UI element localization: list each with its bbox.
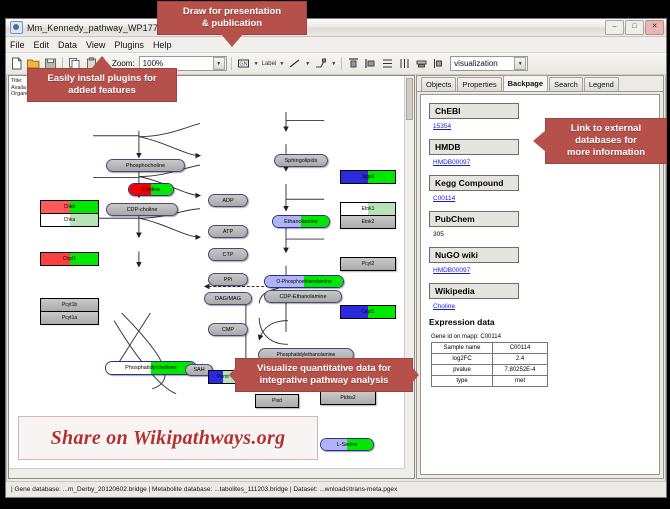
arrow-left-icon [229, 366, 237, 384]
gene-node[interactable]: Etnk2 [341, 216, 395, 228]
callout-visualize-line1: Visualize quantitative data for [257, 363, 391, 374]
metabolite-node[interactable]: CTP [208, 248, 248, 261]
minimize-button[interactable]: – [605, 20, 624, 35]
callout-visualize: Visualize quantitative data for integrat… [235, 358, 413, 392]
window-controls: – □ ✕ [605, 20, 664, 35]
menu-item-help[interactable]: Help [153, 40, 172, 50]
callout-plugins: Easily install plugins for added feature… [27, 68, 177, 102]
row-value: met [493, 376, 548, 387]
chevron-down-icon[interactable]: ▼ [213, 57, 225, 70]
metabolite-node[interactable]: Choline [128, 183, 174, 196]
kegg-link[interactable]: C00114 [433, 195, 651, 202]
canvas-horizontal-scrollbar[interactable] [9, 468, 405, 478]
label-tool[interactable]: Label [262, 61, 277, 67]
row-key: pvalue [432, 365, 493, 376]
table-row: type met [432, 376, 548, 387]
menu-item-file[interactable]: File [10, 40, 25, 50]
gene-node[interactable]: Pcyt1b [41, 299, 98, 312]
section-header-hmdb: HMDB [429, 139, 519, 155]
callout-plugins-line2: added features [68, 85, 136, 96]
tab-properties[interactable]: Properties [457, 77, 501, 91]
stack-icon[interactable] [414, 56, 429, 71]
order-icon[interactable] [431, 56, 446, 71]
distribute-vertical-icon[interactable] [380, 56, 395, 71]
tab-legend[interactable]: Legend [584, 77, 619, 91]
section-header-kegg: Kegg Compound [429, 175, 519, 191]
menu-item-plugins[interactable]: Plugins [114, 40, 144, 50]
gene-node[interactable]: Ptdss2 [320, 391, 376, 405]
row-value: 2.4 [493, 354, 548, 365]
chevron-down-icon[interactable]: ▼ [331, 61, 336, 67]
gene-node[interactable]: Chpt1 [40, 252, 99, 266]
close-button[interactable]: ✕ [645, 20, 664, 35]
menu-item-data[interactable]: Data [58, 40, 77, 50]
data-node-tool-icon[interactable]: GN [236, 56, 251, 71]
expression-table: Sample name C00114 log2FC 2.4 pvalue 7.8… [431, 342, 548, 387]
metabolite-node[interactable]: L-Serine [320, 438, 374, 451]
metabolite-node[interactable]: Ethanolamine [272, 215, 330, 228]
section-header-pubchem: PubChem [429, 211, 519, 227]
chevron-down-icon[interactable]: ▼ [279, 61, 284, 67]
metabolite-node[interactable]: O-Phosphoethanolamine [264, 275, 344, 288]
gene-group-etnk[interactable]: Etnk1 Etnk2 [340, 202, 396, 229]
gene-node[interactable]: Cept1 [340, 305, 396, 319]
callout-draw-line1: Draw for presentation [183, 6, 281, 17]
visualization-combobox[interactable]: visualization ▼ [450, 56, 528, 71]
gene-node[interactable]: Sgpl1 [340, 170, 396, 184]
row-key: type [432, 376, 493, 387]
callout-draw: Draw for presentation & publication [157, 1, 307, 35]
metabolite-node[interactable]: ATP [208, 225, 248, 238]
distribute-horizontal-icon[interactable] [397, 56, 412, 71]
metabolite-node[interactable]: ADP [208, 194, 248, 207]
tab-backpage[interactable]: Backpage [503, 75, 548, 91]
gene-id-on-mapp: Gene id on mapp: C00114 [431, 334, 651, 340]
toolbar-separator [341, 57, 342, 70]
title-bar: Mm_Kennedy_pathway_WP1771_45176.gpml – □… [6, 19, 666, 37]
tab-search[interactable]: Search [549, 77, 583, 91]
row-key: Sample name [432, 343, 493, 354]
maximize-button[interactable]: □ [625, 20, 644, 35]
arrow-down-icon [221, 34, 243, 47]
status-bar: | Gene database: ...m_Derby_20120602.bri… [6, 481, 666, 497]
canvas-vertical-scrollbar[interactable] [404, 76, 414, 478]
callout-link-line1: Link to external [571, 123, 641, 134]
toolbar-separator [231, 57, 232, 70]
share-text: Share on Wikipathways.org [51, 427, 286, 450]
metabolite-node[interactable]: CDP-Ethanolamine [264, 290, 342, 303]
metabolite-node[interactable]: Phosphocholine [106, 159, 185, 172]
callout-share: Share on Wikipathways.org [18, 416, 318, 460]
chevron-down-icon[interactable]: ▼ [254, 61, 259, 67]
metabolite-node[interactable]: Phosphatidylcholines [105, 361, 197, 375]
gene-node[interactable]: Etnk1 [341, 203, 395, 216]
tab-objects[interactable]: Objects [421, 77, 456, 91]
application-icon [10, 21, 23, 34]
side-panel-tabs: Objects Properties Backpage Search Legen… [417, 76, 663, 92]
table-row: log2FC 2.4 [432, 354, 548, 365]
metabolite-node[interactable]: CMP [208, 323, 248, 336]
callout-visualize-line2: integrative pathway analysis [260, 375, 389, 386]
zoom-value: 100% [143, 59, 163, 68]
wikipedia-link[interactable]: Choline [433, 303, 651, 310]
line-tool-icon[interactable] [287, 56, 302, 71]
zoom-label: Zoom: [112, 59, 135, 68]
row-value: C00114 [493, 343, 548, 354]
align-top-icon[interactable] [346, 56, 361, 71]
screenshot-root: Mm_Kennedy_pathway_WP1771_45176.gpml – □… [0, 0, 670, 509]
arrow-up-icon [91, 56, 113, 69]
arrow-left-icon [533, 130, 546, 152]
menu-item-edit[interactable]: Edit [34, 40, 50, 50]
section-header-nugo: NuGO wiki [429, 247, 519, 263]
gene-node[interactable]: Chka [41, 214, 98, 226]
metabolite-node[interactable]: Sphingolipids [274, 154, 328, 167]
callout-link-line3: more information [567, 147, 645, 158]
arrow-right-icon [411, 366, 419, 384]
align-left-icon[interactable] [363, 56, 378, 71]
expression-data-title: Expression data [429, 317, 651, 327]
gene-node[interactable]: Chkb [41, 201, 98, 214]
callout-draw-line2: & publication [202, 18, 262, 29]
status-text: | Gene database: ...m_Derby_20120602.bri… [6, 486, 397, 493]
gene-group-chk[interactable]: Chkb Chka [40, 200, 99, 227]
visualization-value: visualization [454, 59, 498, 68]
callout-plugins-line1: Easily install plugins for [47, 73, 156, 84]
callout-link-databases: Link to external databases for more info… [545, 118, 667, 164]
section-header-chebi: ChEBI [429, 103, 519, 119]
chevron-down-icon[interactable]: ▼ [514, 57, 526, 70]
new-file-icon[interactable] [9, 56, 24, 71]
pubchem-value: 305 [433, 231, 651, 238]
callout-link-line2: databases for [575, 135, 637, 146]
menu-bar: File Edit Data View Plugins Help [6, 37, 666, 53]
row-value: 7.80252E-4 [493, 365, 548, 376]
table-row: Sample name C00114 [432, 343, 548, 354]
gene-node[interactable]: Pcyt2 [340, 257, 396, 271]
meta-organism: Organi [11, 91, 28, 98]
gene-group-pcyt1[interactable]: Pcyt1b Pcyt1a [40, 298, 99, 325]
shape-tool-icon[interactable] [313, 56, 328, 71]
metabolite-node[interactable]: CDP-choline [106, 203, 178, 216]
chevron-down-icon[interactable]: ▼ [305, 61, 310, 67]
menu-item-view[interactable]: View [86, 40, 105, 50]
nugo-link[interactable]: HMDB00097 [433, 267, 651, 274]
gene-node[interactable]: Pcyt1a [41, 312, 98, 324]
table-row: pvalue 7.80252E-4 [432, 365, 548, 376]
metabolite-node[interactable]: PPi [208, 273, 248, 286]
pathway-metadata: Title: Availa Organi [11, 78, 28, 98]
metabolite-node[interactable]: DAG/MAG [204, 292, 252, 305]
svg-text:GN: GN [239, 62, 247, 68]
scrollbar-thumb[interactable] [406, 78, 413, 120]
row-key: log2FC [432, 354, 493, 365]
section-header-wikipedia: Wikipedia [429, 283, 519, 299]
gene-node[interactable]: Pisd [255, 394, 299, 408]
